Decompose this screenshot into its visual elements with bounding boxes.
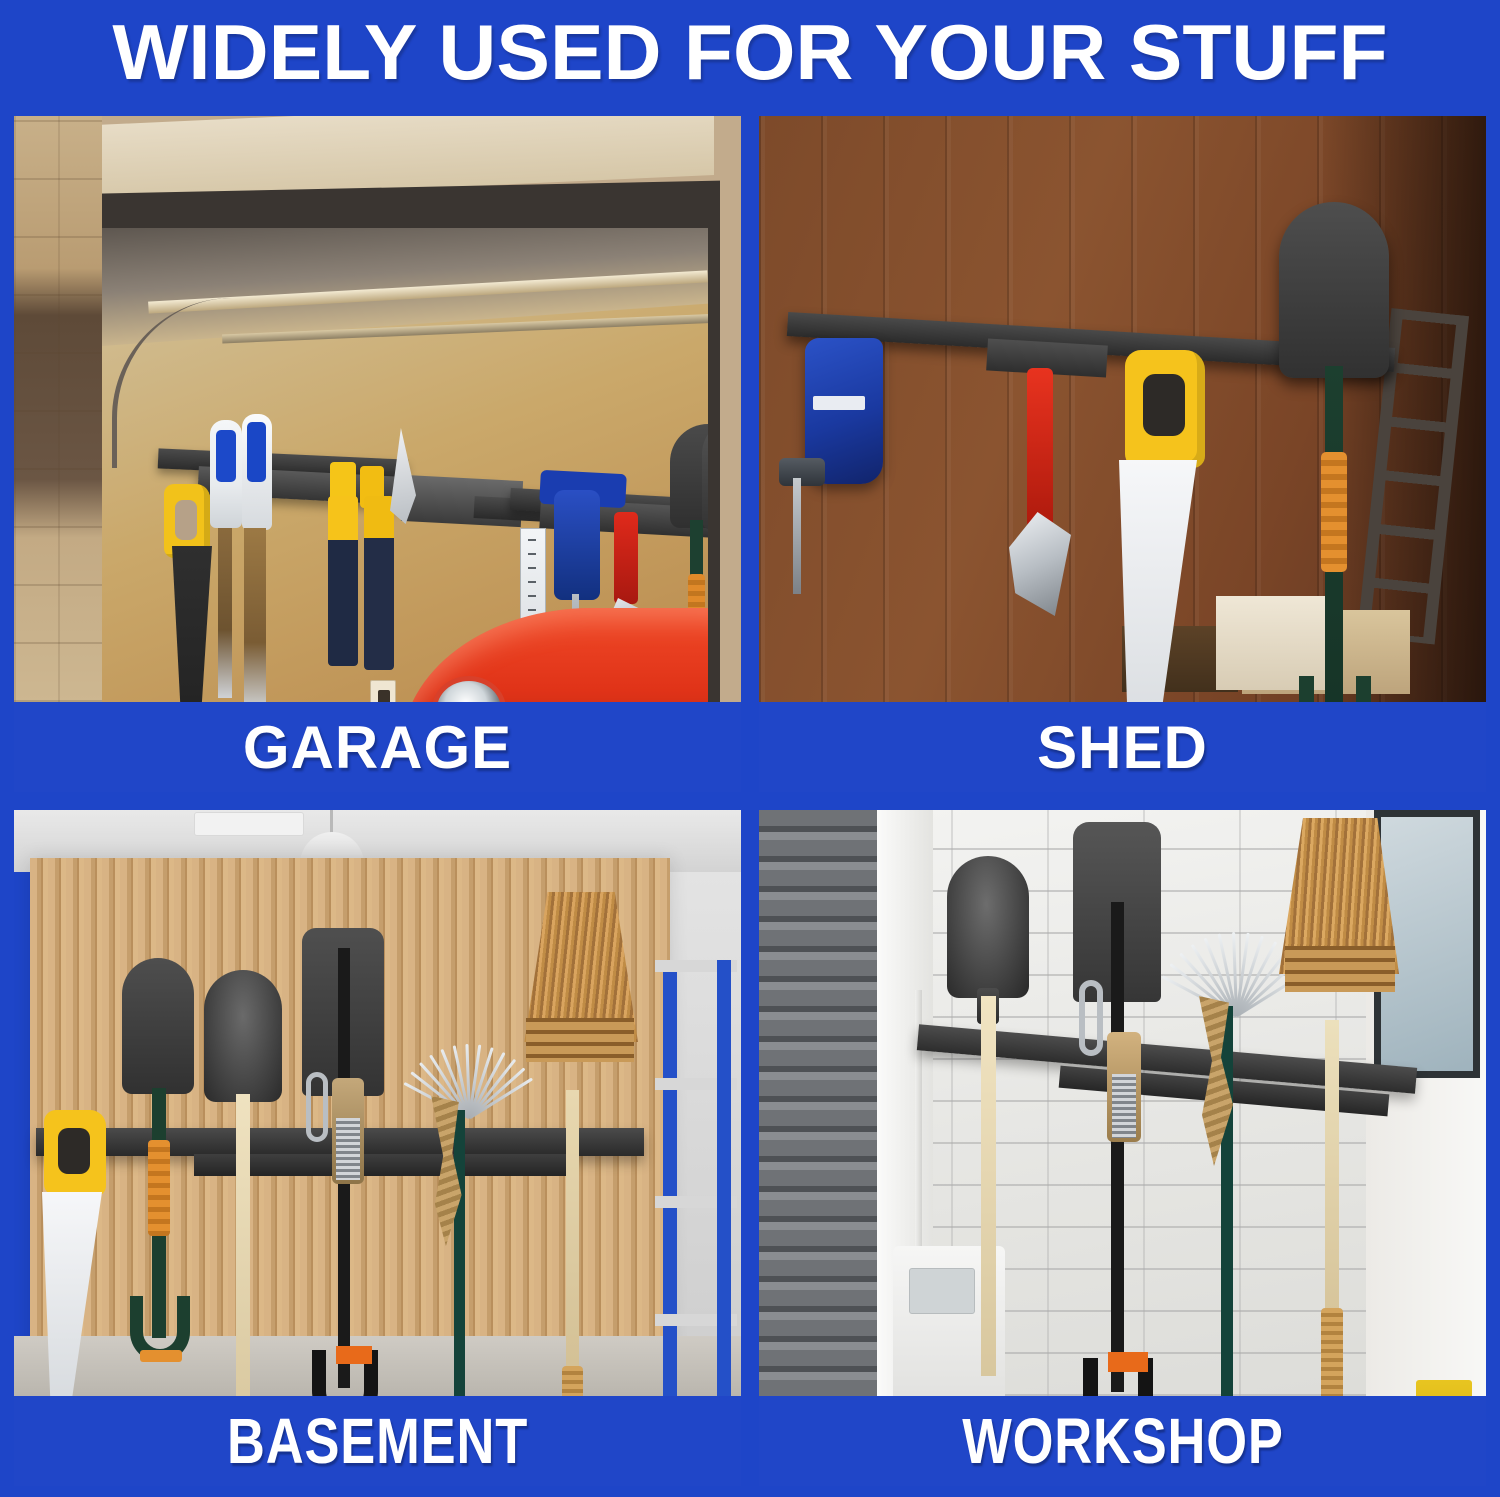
screwdriver-white-blue-icon: [210, 420, 242, 528]
yellow-control-box: [1416, 1380, 1472, 1396]
caption-label-workshop: WORKSHOP: [962, 1404, 1283, 1478]
shed-photo: [759, 116, 1486, 702]
garage-photo: [14, 116, 741, 702]
shovel-d-grip-icon: [1299, 676, 1371, 702]
garage-interior: [102, 228, 708, 702]
garage-stone-pillar: [14, 116, 102, 702]
heater-display: [909, 1268, 975, 1314]
drill-chuck-icon: [779, 458, 825, 486]
workshop-photo: [759, 810, 1486, 1396]
wire-brush-icon: [332, 1078, 364, 1184]
square-shovel-d-grip-icon: [1083, 1358, 1153, 1396]
square-shovel-d-grip-icon: [312, 1350, 378, 1396]
caption-label-shed: SHED: [1037, 713, 1208, 782]
caption-label-basement: BASEMENT: [227, 1404, 528, 1478]
rake-head-icon: [400, 1020, 540, 1118]
basement-photo: [14, 810, 741, 1396]
wrench-handle-icon: [1027, 368, 1053, 528]
screwdriver-yellow-icon: [328, 496, 358, 666]
caption-label-garage: GARAGE: [243, 713, 512, 782]
spade-blade-icon: [122, 958, 194, 1094]
carabiner-icon: [1079, 980, 1103, 1056]
broom-grip-icon: [562, 1366, 583, 1396]
shovel-wood-handle-icon: [236, 1094, 250, 1396]
broom-handle-icon: [566, 1090, 579, 1396]
broom-binding: [526, 1018, 634, 1062]
tool-rail-lower: [194, 1154, 574, 1176]
panel-shed[interactable]: SHED: [755, 112, 1490, 796]
chisel-icon: [218, 528, 232, 698]
broom-head-icon: [1279, 818, 1399, 1028]
panel-grid: GARAGE: [0, 104, 1500, 1497]
shovel-blade-icon: [1279, 202, 1389, 378]
garage-caption-band: GARAGE: [14, 702, 741, 792]
panel-frame: GARAGE: [10, 112, 745, 796]
shovel-grip-icon: [1321, 452, 1347, 572]
basement-caption-band: BASEMENT: [14, 1396, 741, 1486]
carabiner-icon: [306, 1072, 328, 1142]
screwdriver-white-blue-2-icon: [242, 414, 272, 530]
shovel-blade-icon: [204, 970, 282, 1102]
drill-bit-icon: [793, 478, 801, 594]
wall-outlet: [370, 680, 396, 702]
broom-head-icon: [522, 892, 638, 1098]
shovel-wood-handle-icon: [981, 996, 996, 1376]
square-shovel-handle-icon: [1111, 902, 1124, 1392]
storage-shelving: [649, 960, 737, 1396]
rake-tines: [400, 1020, 540, 1118]
chisel-2-icon: [244, 528, 266, 702]
adjustable-wrench-icon: [614, 512, 638, 604]
ceiling-vent-icon: [194, 812, 304, 836]
header-banner: WIDELY USED FOR YOUR STUFF: [0, 0, 1500, 104]
page-title: WIDELY USED FOR YOUR STUFF: [112, 7, 1387, 98]
panel-workshop[interactable]: WORKSHOP: [755, 806, 1490, 1490]
cordless-drill-icon: [554, 490, 600, 600]
panel-frame: BASEMENT: [10, 806, 745, 1490]
panel-garage[interactable]: GARAGE: [10, 112, 745, 796]
rake-handle-icon: [454, 1110, 465, 1396]
broom-grip-icon: [1321, 1308, 1343, 1396]
panel-frame: WORKSHOP: [755, 806, 1490, 1490]
workshop-caption-band: WORKSHOP: [759, 1396, 1486, 1486]
broom-binding: [1285, 946, 1395, 992]
product-feature-poster: WIDELY USED FOR YOUR STUFF: [0, 0, 1500, 1497]
screwdriver-yellow-2-icon: [364, 496, 394, 670]
hand-saw-handle-icon: [44, 1110, 106, 1196]
shovel-blade-icon: [947, 856, 1029, 998]
spade-d-grip-pad: [140, 1350, 182, 1362]
shelf-levels: [655, 960, 737, 1396]
hand-saw-handle-icon: [1125, 350, 1205, 468]
drill-label: [813, 396, 865, 410]
wire-brush-icon: [1107, 1032, 1141, 1142]
spade-grip-icon: [148, 1140, 170, 1236]
panel-frame: SHED: [755, 112, 1490, 796]
hand-saw-blade-icon: [172, 546, 212, 702]
panel-basement[interactable]: BASEMENT: [10, 806, 745, 1490]
shed-caption-band: SHED: [759, 702, 1486, 792]
roller-shutter-door: [759, 810, 883, 1396]
